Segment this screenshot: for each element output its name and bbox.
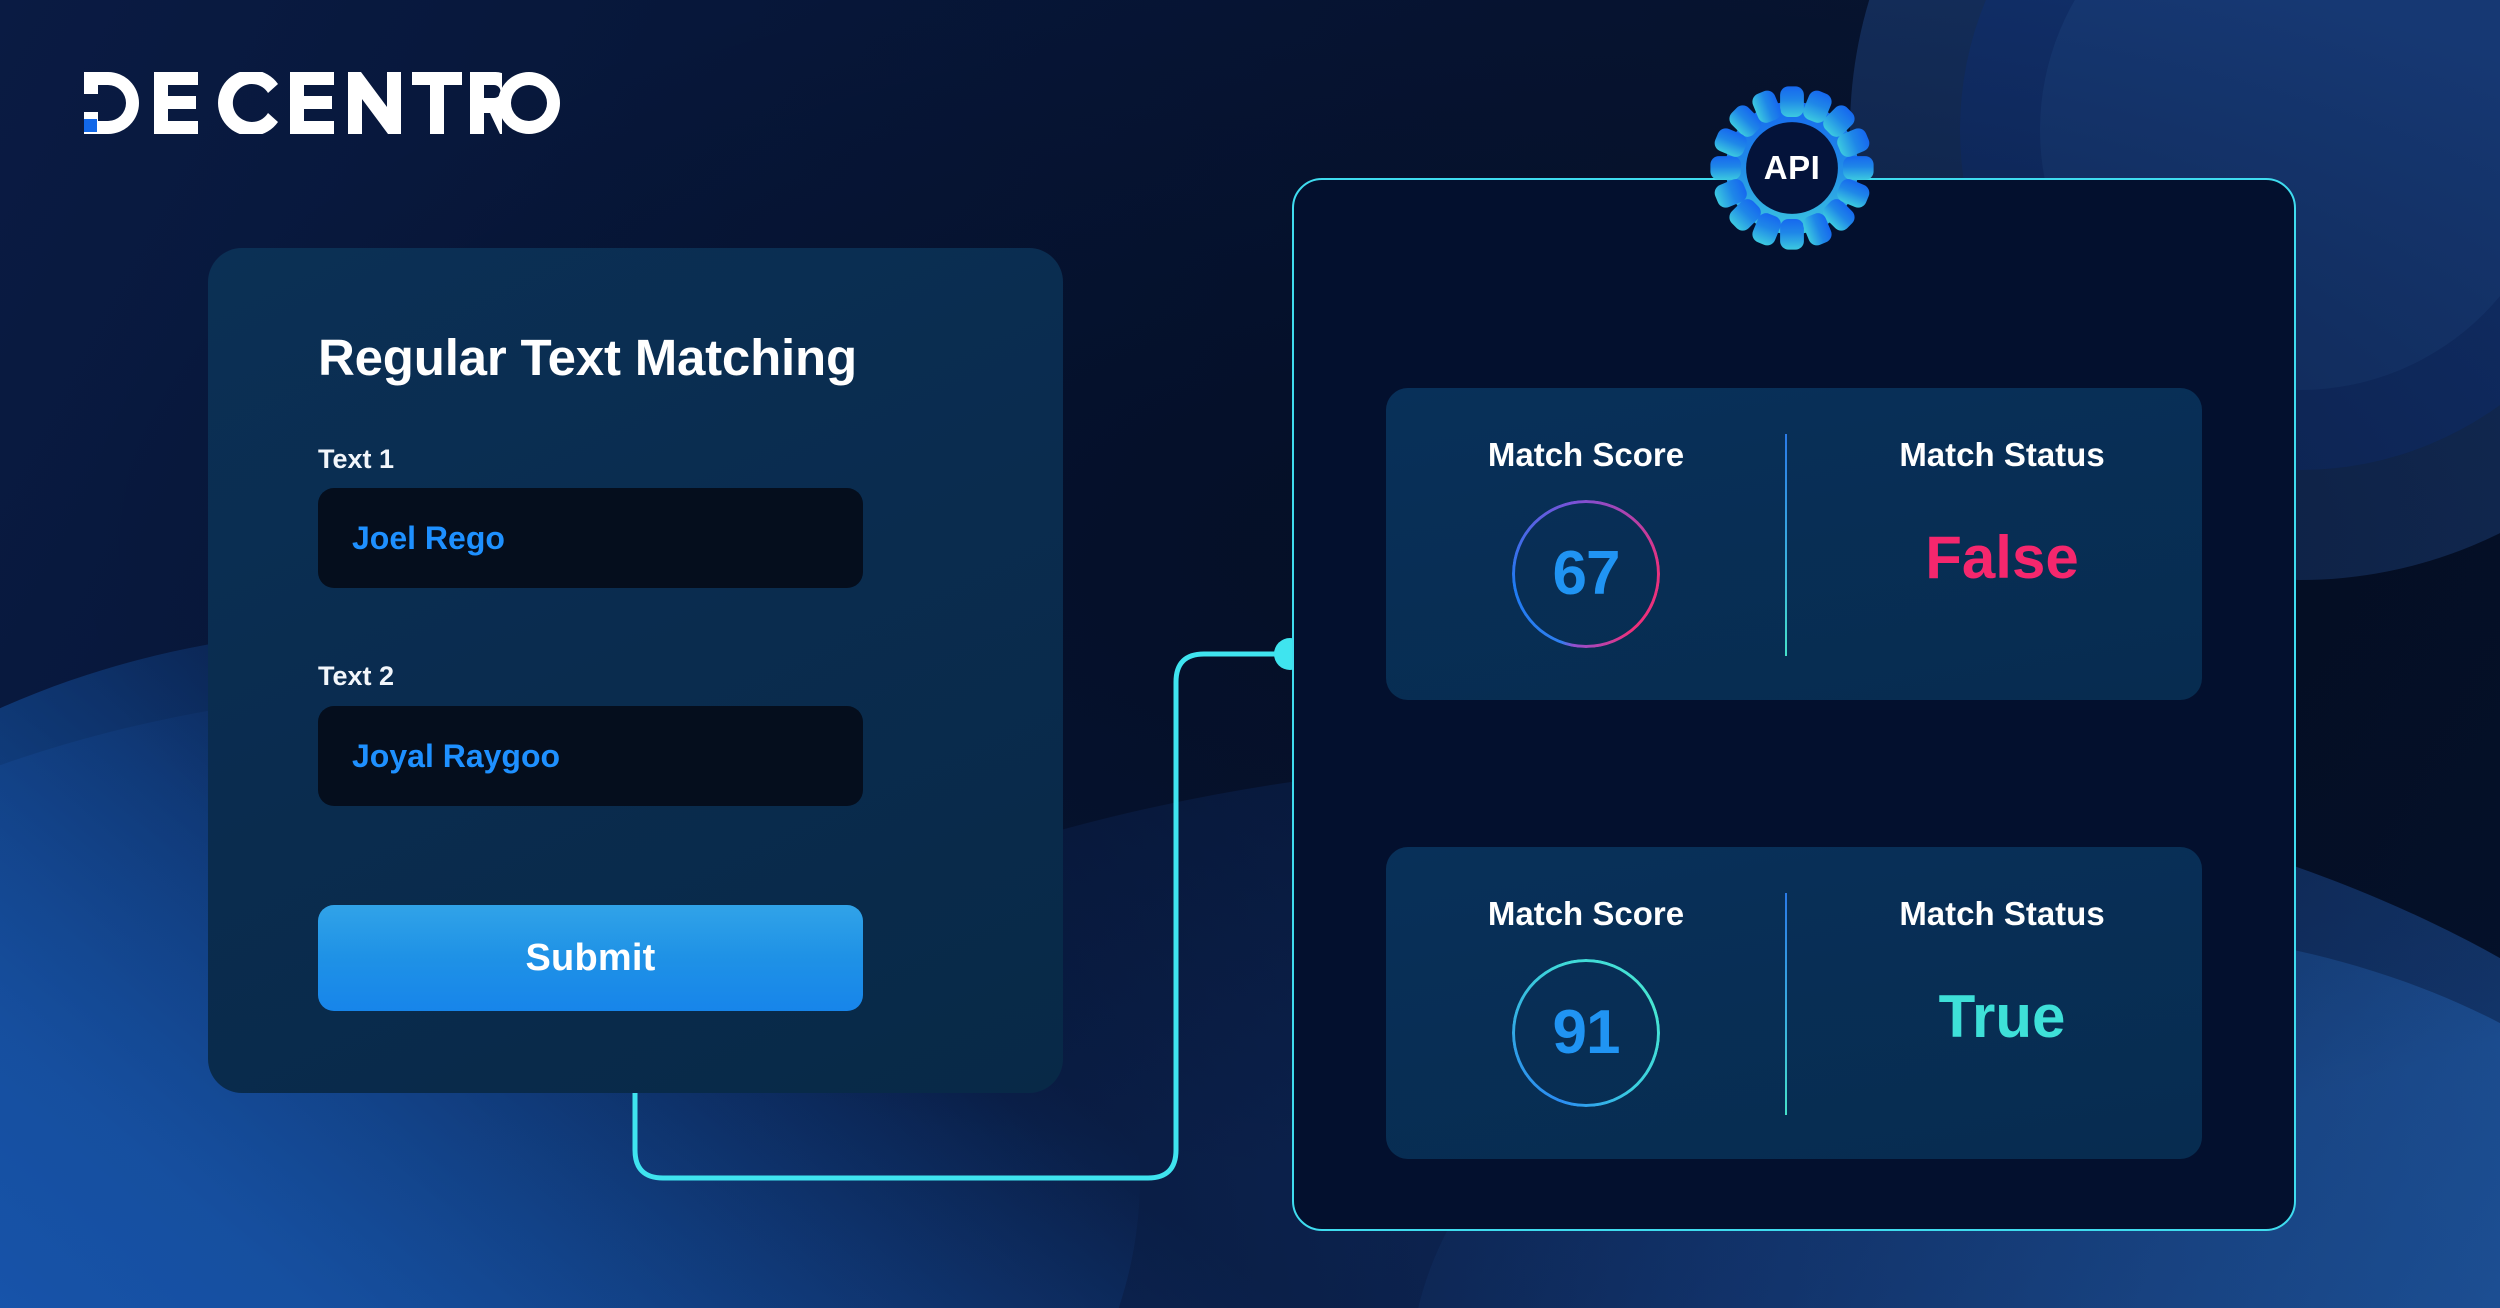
text1-label: Text 1 [318, 444, 394, 475]
logo-accent-square [84, 119, 97, 132]
textual-score-cell: Match Score 67 [1386, 388, 1786, 700]
illustration-canvas: Regular Text Matching Text 1 Text 2 Subm… [0, 0, 2500, 1308]
phonetic-card-divider [1785, 893, 1787, 1115]
textual-score-ring: 67 [1512, 500, 1660, 648]
phonetic-status-value: True [1939, 987, 2066, 1047]
phonetic-status-cell: Match Status True [1802, 847, 2202, 1159]
phonetic-score-value: 91 [1553, 1002, 1620, 1064]
text2-label: Text 2 [318, 661, 394, 692]
phonetic-status-label: Match Status [1899, 895, 2104, 933]
phonetic-score-cell: Match Score 91 [1386, 847, 1786, 1159]
textual-status-value: False [1925, 528, 2078, 588]
phonetic-result-card: Match Score 91 Match Status True [1386, 847, 2202, 1159]
decentro-logo [82, 72, 564, 134]
text-matching-form-card: Regular Text Matching Text 1 Text 2 Subm… [208, 248, 1063, 1093]
textual-card-divider [1785, 434, 1787, 656]
textual-score-label: Match Score [1488, 436, 1684, 474]
api-badge-label: API [1707, 83, 1877, 253]
phonetic-score-label: Match Score [1488, 895, 1684, 933]
submit-button[interactable]: Submit [318, 905, 863, 1011]
api-gear-badge: API [1707, 83, 1877, 253]
decentro-wordmark-o-icon [494, 72, 564, 134]
phonetic-score-ring: 91 [1512, 959, 1660, 1107]
text1-input[interactable] [318, 488, 863, 588]
page-title: Regular Text Matching [318, 328, 857, 387]
textual-status-label: Match Status [1899, 436, 2104, 474]
textual-score-value: 67 [1553, 543, 1620, 605]
textual-status-cell: Match Status False [1802, 388, 2202, 700]
decentro-wordmark-icon [82, 72, 502, 134]
textual-result-card: Match Score 67 Match Status False [1386, 388, 2202, 700]
text2-input[interactable] [318, 706, 863, 806]
